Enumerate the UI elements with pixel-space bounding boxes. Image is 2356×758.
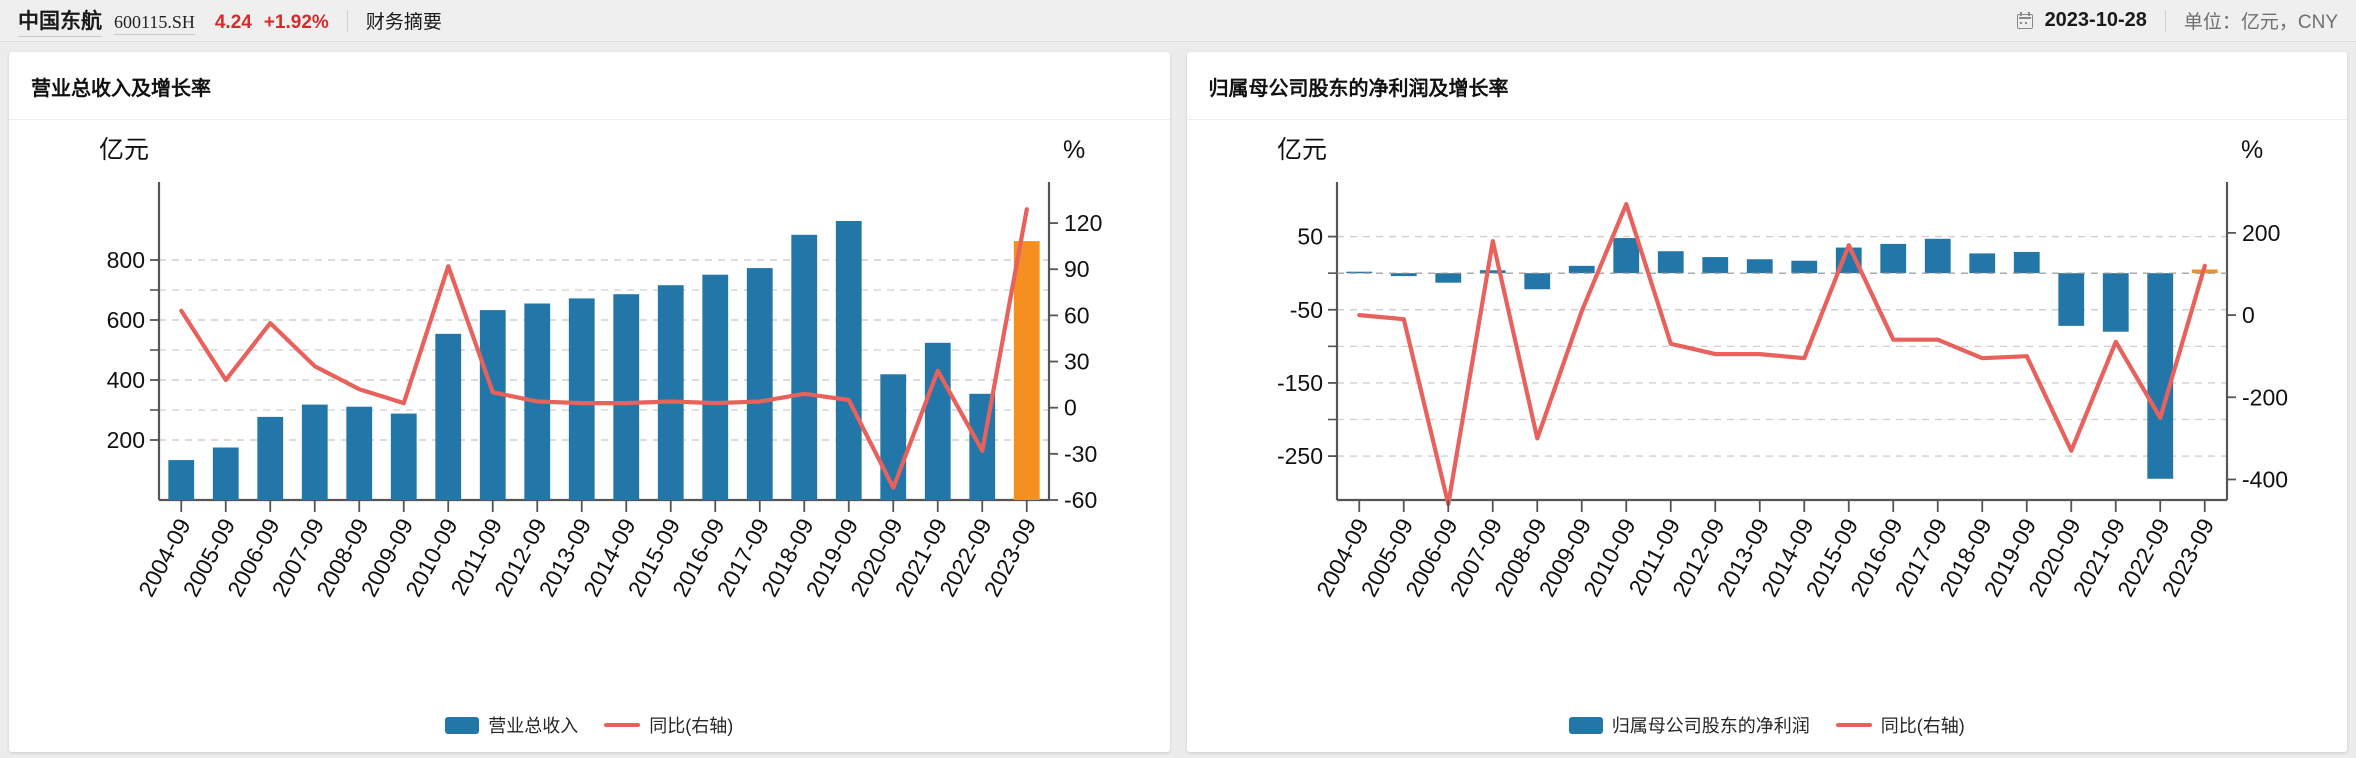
unit-label: 单位：亿元，CNY	[2184, 7, 2338, 34]
header-divider-2	[2165, 10, 2166, 32]
header-divider	[347, 10, 348, 32]
svg-text:50: 50	[1297, 224, 1323, 250]
svg-text:亿元: 亿元	[99, 136, 149, 164]
revenue-chart-svg: 200400600800-60-300306090120亿元%2004-0920…	[9, 120, 1159, 680]
stock-code[interactable]: 600115.SH	[114, 12, 195, 35]
panel-title-revenue: 营业总收入及增长率	[9, 52, 1170, 101]
legend-swatch-bar	[1569, 717, 1603, 734]
stock-identity: 中国东航 600115.SH 4.24 +1.92%	[18, 5, 329, 37]
panel-title-profit: 归属母公司股东的净利润及增长率	[1187, 52, 2348, 101]
svg-text:120: 120	[1064, 210, 1102, 236]
svg-text:200: 200	[107, 427, 145, 453]
panel-profit: 归属母公司股东的净利润及增长率 -250-150-5050-400-200020…	[1187, 52, 2348, 752]
legend-item-profit-line[interactable]: 同比(右轴)	[1836, 712, 1965, 738]
svg-text:0: 0	[1064, 395, 1077, 421]
legend-item-profit-bar[interactable]: 归属母公司股东的净利润	[1569, 712, 1810, 738]
tab-financial-summary[interactable]: 财务摘要	[366, 7, 442, 34]
stock-change-pct: +1.92%	[264, 12, 329, 34]
svg-text:-400: -400	[2242, 466, 2288, 492]
legend-revenue: 营业总收入 同比(右轴)	[9, 712, 1170, 738]
legend-label-profit-bar: 归属母公司股东的净利润	[1612, 712, 1810, 738]
legend-label-profit-line: 同比(右轴)	[1881, 712, 1965, 738]
svg-text:200: 200	[2242, 220, 2280, 246]
stock-price: 4.24	[215, 12, 252, 34]
chart-profit: -250-150-5050-400-2000200亿元%2004-092005-…	[1187, 120, 2348, 752]
svg-text:90: 90	[1064, 256, 1090, 282]
legend-swatch-bar	[445, 717, 479, 734]
svg-text:60: 60	[1064, 302, 1090, 328]
legend-label-revenue-bar: 营业总收入	[488, 712, 578, 738]
legend-item-revenue-line[interactable]: 同比(右轴)	[604, 712, 733, 738]
header-right: 2023-10-28 单位：亿元，CNY	[2016, 7, 2338, 34]
chart-revenue: 200400600800-60-300306090120亿元%2004-0920…	[9, 120, 1170, 752]
legend-swatch-line	[1836, 723, 1872, 727]
svg-text:-60: -60	[1064, 487, 1097, 513]
profit-chart-svg: -250-150-5050-400-2000200亿元%2004-092005-…	[1187, 120, 2337, 680]
svg-text:800: 800	[107, 247, 145, 273]
svg-text:600: 600	[107, 307, 145, 333]
report-date[interactable]: 2023-10-28	[2045, 9, 2147, 32]
svg-text:-200: -200	[2242, 384, 2288, 410]
legend-item-revenue-bar[interactable]: 营业总收入	[445, 712, 578, 738]
svg-text:0: 0	[2242, 302, 2255, 328]
svg-text:%: %	[1063, 136, 1085, 164]
svg-text:-150: -150	[1276, 370, 1322, 396]
svg-text:-50: -50	[1289, 297, 1322, 323]
calendar-icon	[2016, 11, 2036, 31]
svg-text:30: 30	[1064, 349, 1090, 375]
panel-revenue: 营业总收入及增长率 200400600800-60-300306090120亿元…	[9, 52, 1170, 752]
svg-text:-30: -30	[1064, 441, 1097, 467]
legend-profit: 归属母公司股东的净利润 同比(右轴)	[1187, 712, 2348, 738]
legend-swatch-line	[604, 723, 640, 727]
svg-text:400: 400	[107, 367, 145, 393]
svg-text:-250: -250	[1276, 443, 1322, 469]
panel-container: 营业总收入及增长率 200400600800-60-300306090120亿元…	[0, 42, 2356, 758]
legend-label-revenue-line: 同比(右轴)	[649, 712, 733, 738]
svg-text:%: %	[2241, 136, 2263, 164]
svg-text:亿元: 亿元	[1277, 136, 1327, 164]
stock-name[interactable]: 中国东航	[18, 5, 102, 37]
app-header: 中国东航 600115.SH 4.24 +1.92% 财务摘要 2023-10-…	[0, 0, 2356, 42]
